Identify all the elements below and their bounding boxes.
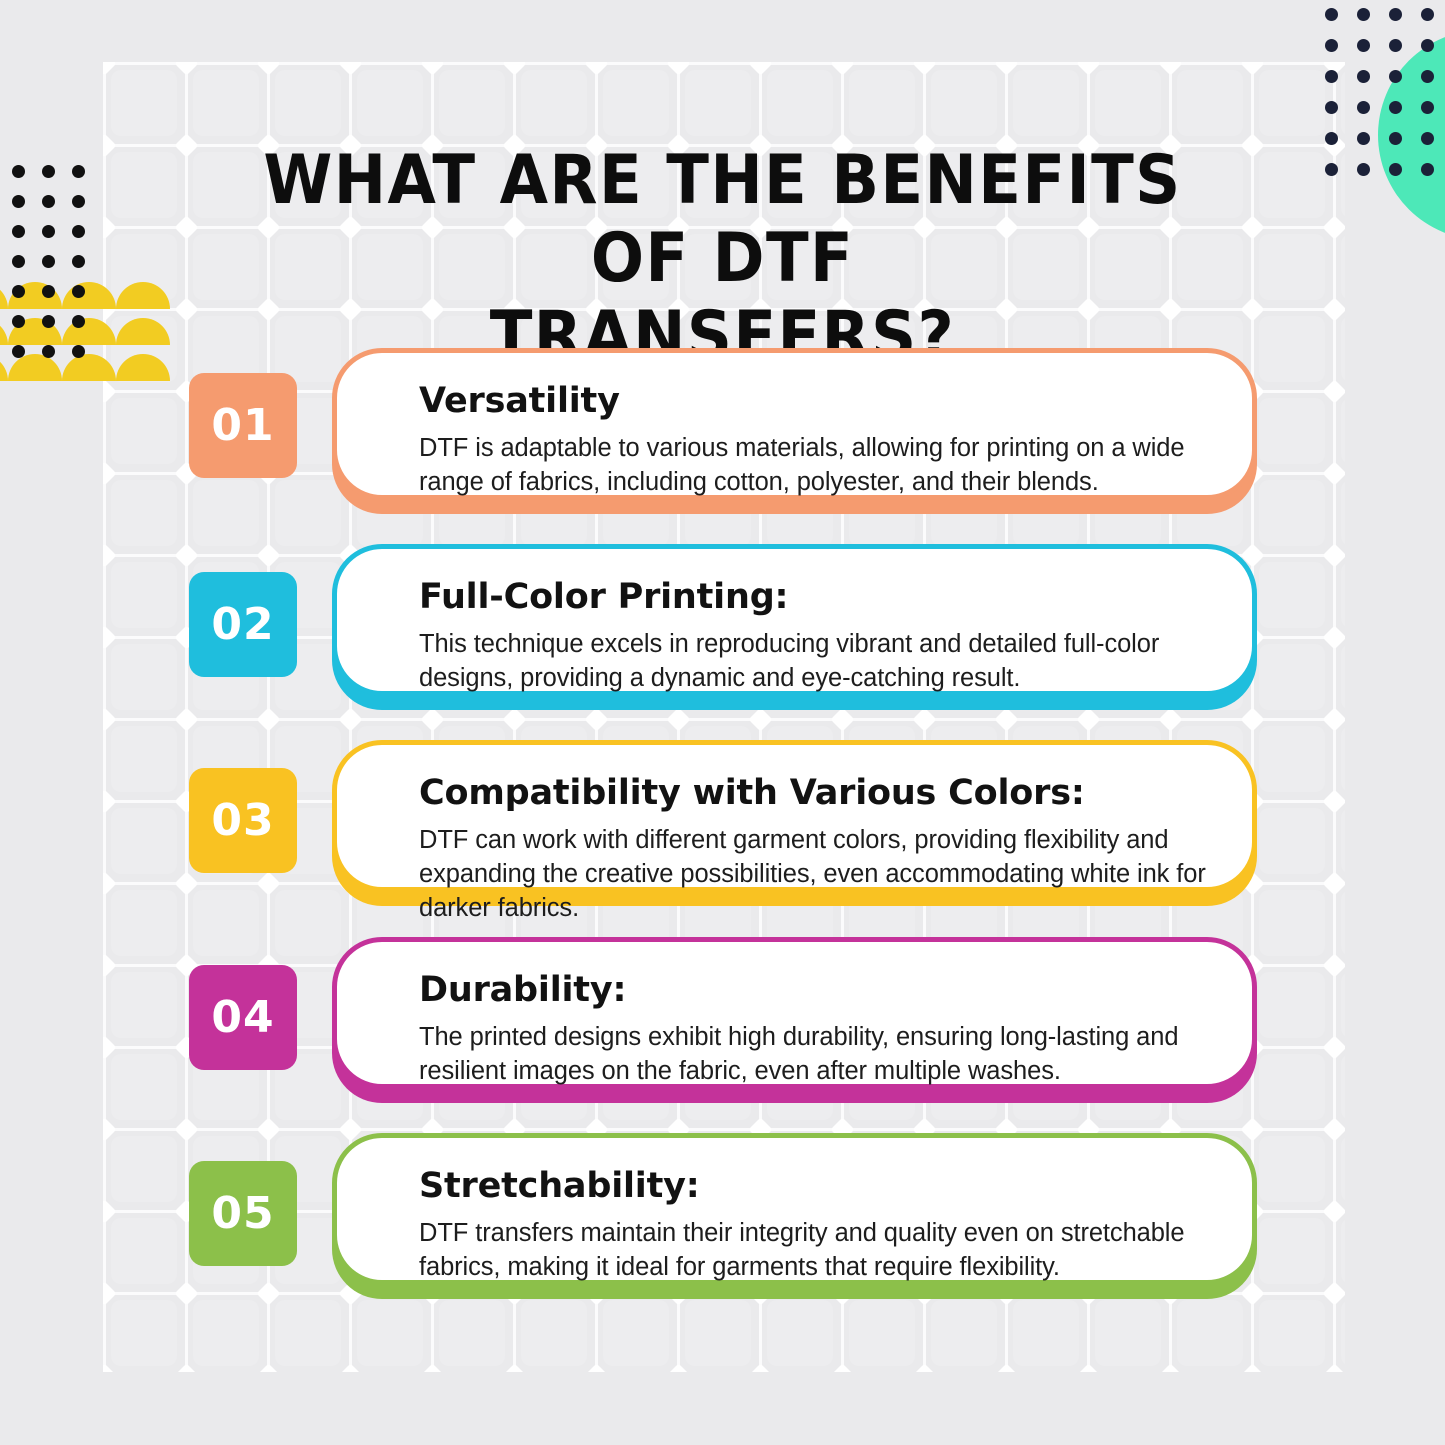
card-surface: Durability:The printed designs exhibit h… — [332, 937, 1257, 1089]
grid-tile — [1337, 968, 1345, 1042]
grid-tile — [107, 804, 181, 878]
grid-tile — [1255, 66, 1329, 140]
benefit-number-badge: 03 — [189, 768, 297, 873]
decorative-dot — [12, 345, 25, 358]
grid-tile — [599, 66, 673, 140]
grid-tile — [927, 66, 1001, 140]
decorative-dot — [72, 315, 85, 328]
decorative-dot — [1357, 70, 1370, 83]
benefit-heading: Compatibility with Various Colors: — [419, 771, 1212, 815]
grid-tile — [435, 1296, 509, 1370]
decorative-dot — [42, 255, 55, 268]
decorative-dot — [12, 285, 25, 298]
grid-tile — [107, 1132, 181, 1206]
decorative-dot — [1389, 163, 1402, 176]
grid-tile — [681, 1296, 755, 1370]
decorative-dot — [42, 165, 55, 178]
grid-tile — [517, 1296, 591, 1370]
benefit-number-badge: 02 — [189, 572, 297, 677]
grid-tile — [1091, 1296, 1165, 1370]
benefit-description: DTF is adaptable to various materials, a… — [419, 431, 1212, 499]
grid-tile — [1337, 394, 1345, 468]
grid-tile — [107, 886, 181, 960]
decorative-dot — [72, 165, 85, 178]
grid-tile — [845, 66, 919, 140]
decorative-dot — [1325, 101, 1338, 114]
grid-tile — [1173, 1296, 1247, 1370]
decorative-dot — [42, 225, 55, 238]
yellow-dome — [116, 318, 170, 345]
benefit-card[interactable]: Durability:The printed designs exhibit h… — [332, 937, 1257, 1089]
grid-tile — [107, 148, 181, 222]
benefit-card[interactable]: Full-Color Printing:This technique excel… — [332, 544, 1257, 696]
decorative-dot — [42, 195, 55, 208]
page-title: WHAT ARE THE BENEFITS OF DTFTRANSFERS? — [219, 142, 1226, 376]
decorative-dot — [1357, 132, 1370, 145]
grid-tile — [1337, 1296, 1345, 1370]
decorative-dot — [72, 345, 85, 358]
grid-tile — [1337, 558, 1345, 632]
card-surface: Compatibility with Various Colors:DTF ca… — [332, 740, 1257, 892]
grid-tile — [271, 66, 345, 140]
grid-tile — [189, 476, 263, 550]
decorative-dot — [1325, 163, 1338, 176]
grid-tile — [1255, 968, 1329, 1042]
grid-tile — [1255, 1214, 1329, 1288]
grid-tile — [1255, 148, 1329, 222]
decorative-dot — [1357, 39, 1370, 52]
yellow-dome — [116, 354, 170, 381]
decorative-dot — [1357, 8, 1370, 21]
decorative-dot — [1421, 70, 1434, 83]
grid-tile — [1255, 1296, 1329, 1370]
grid-tile — [599, 1296, 673, 1370]
grid-tile — [1009, 66, 1083, 140]
decorative-dot — [42, 345, 55, 358]
grid-tile — [1337, 230, 1345, 304]
dot-grid-left — [12, 165, 102, 365]
grid-tile — [1255, 886, 1329, 960]
benefit-card[interactable]: Stretchability:DTF transfers maintain th… — [332, 1133, 1257, 1285]
grid-tile — [763, 66, 837, 140]
card-surface: Full-Color Printing:This technique excel… — [332, 544, 1257, 696]
decorative-dot — [1421, 8, 1434, 21]
grid-tile — [1009, 1296, 1083, 1370]
decorative-dot — [12, 225, 25, 238]
decorative-dot — [72, 285, 85, 298]
decorative-dot — [1389, 101, 1402, 114]
infographic-canvas: WHAT ARE THE BENEFITS OF DTFTRANSFERS? 0… — [0, 0, 1445, 1445]
benefit-card[interactable]: VersatilityDTF is adaptable to various m… — [332, 348, 1257, 500]
grid-tile — [1337, 1214, 1345, 1288]
grid-tile — [271, 1296, 345, 1370]
grid-tile — [435, 66, 509, 140]
decorative-dot — [12, 195, 25, 208]
grid-tile — [845, 1296, 919, 1370]
card-surface: Stretchability:DTF transfers maintain th… — [332, 1133, 1257, 1285]
grid-tile — [189, 66, 263, 140]
page-title-line: WHAT ARE THE BENEFITS OF DTF — [219, 142, 1226, 298]
grid-tile — [107, 1296, 181, 1370]
grid-tile — [1337, 886, 1345, 960]
grid-tile — [107, 1050, 181, 1124]
grid-tile — [107, 66, 181, 140]
decorative-dot — [1421, 163, 1434, 176]
dot-grid-top-right — [1325, 0, 1445, 190]
yellow-dome — [116, 282, 170, 309]
benefit-number-badge: 04 — [189, 965, 297, 1070]
decorative-dot — [12, 255, 25, 268]
grid-tile — [1337, 1132, 1345, 1206]
grid-tile — [1255, 476, 1329, 550]
yellow-dome — [0, 282, 8, 309]
decorative-dot — [1389, 132, 1402, 145]
grid-tile — [1091, 66, 1165, 140]
yellow-dome — [0, 354, 8, 381]
grid-tile — [107, 1214, 181, 1288]
benefit-heading: Durability: — [419, 968, 1212, 1012]
grid-tile — [1337, 1050, 1345, 1124]
benefit-heading: Stretchability: — [419, 1164, 1212, 1208]
grid-tile — [1255, 394, 1329, 468]
grid-tile — [681, 66, 755, 140]
grid-tile — [927, 1296, 1001, 1370]
benefit-number-badge: 01 — [189, 373, 297, 478]
card-surface: VersatilityDTF is adaptable to various m… — [332, 348, 1257, 500]
grid-tile — [189, 886, 263, 960]
decorative-dot — [1421, 39, 1434, 52]
grid-tile — [1255, 640, 1329, 714]
decorative-dot — [12, 315, 25, 328]
decorative-dot — [1389, 8, 1402, 21]
grid-tile — [1337, 722, 1345, 796]
decorative-dot — [1357, 101, 1370, 114]
grid-tile — [1255, 312, 1329, 386]
grid-tile — [107, 722, 181, 796]
grid-tile — [1255, 1050, 1329, 1124]
grid-tile — [763, 1296, 837, 1370]
grid-tile — [1255, 804, 1329, 878]
grid-tile — [517, 66, 591, 140]
decorative-dot — [1421, 101, 1434, 114]
benefit-description: DTF can work with different garment colo… — [419, 823, 1212, 925]
yellow-dome — [0, 318, 8, 345]
decorative-dot — [1325, 70, 1338, 83]
grid-tile — [1255, 722, 1329, 796]
grid-tile — [1173, 66, 1247, 140]
grid-tile — [107, 476, 181, 550]
decorative-dot — [1325, 8, 1338, 21]
grid-tile — [1337, 476, 1345, 550]
benefit-heading: Versatility — [419, 379, 1212, 423]
decorative-dot — [72, 225, 85, 238]
grid-tile — [107, 968, 181, 1042]
grid-tile — [1255, 558, 1329, 632]
grid-tile — [353, 66, 427, 140]
decorative-dot — [1325, 39, 1338, 52]
grid-tile — [1337, 804, 1345, 878]
grid-tile — [1255, 230, 1329, 304]
grid-tile — [107, 640, 181, 714]
benefit-description: DTF transfers maintain their integrity a… — [419, 1216, 1212, 1284]
decorative-dot — [42, 315, 55, 328]
decorative-dot — [1389, 70, 1402, 83]
benefit-card[interactable]: Compatibility with Various Colors:DTF ca… — [332, 740, 1257, 892]
grid-tile — [353, 1296, 427, 1370]
decorative-dot — [1389, 39, 1402, 52]
benefit-number-badge: 05 — [189, 1161, 297, 1266]
grid-tile — [189, 1296, 263, 1370]
grid-tile — [1337, 312, 1345, 386]
decorative-dot — [1421, 132, 1434, 145]
benefit-heading: Full-Color Printing: — [419, 575, 1212, 619]
benefit-description: The printed designs exhibit high durabil… — [419, 1020, 1212, 1088]
benefit-description: This technique excels in reproducing vib… — [419, 627, 1212, 695]
decorative-dot — [42, 285, 55, 298]
decorative-dot — [12, 165, 25, 178]
decorative-dot — [72, 195, 85, 208]
grid-tile — [107, 394, 181, 468]
grid-tile — [107, 558, 181, 632]
grid-tile — [1337, 640, 1345, 714]
decorative-dot — [1357, 163, 1370, 176]
decorative-dot — [72, 255, 85, 268]
grid-tile — [1255, 1132, 1329, 1206]
decorative-dot — [1325, 132, 1338, 145]
